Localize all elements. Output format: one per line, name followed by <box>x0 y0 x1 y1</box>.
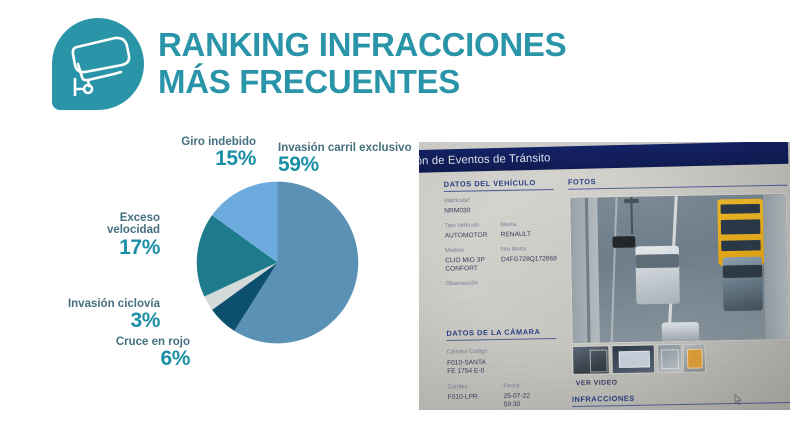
section-header-camara: DATOS DE LA CÁMARA <box>446 327 556 341</box>
motorcycle <box>612 236 635 248</box>
field-value-modelo-line2[interactable]: CONFORT <box>445 265 478 274</box>
bus-vehicle <box>717 199 764 266</box>
partial-car-bottom <box>662 322 700 343</box>
app-title-text: ón de Eventos de Tránsito <box>419 152 551 168</box>
main-evidence-photo[interactable] <box>570 194 788 343</box>
photo-thumbnail-4[interactable] <box>684 345 705 372</box>
field-value-carriles[interactable]: F010-LPR <box>448 393 478 402</box>
pie-label-exceso-velocidad-name-2: velocidad <box>10 224 160 236</box>
pie-label-cruce-en-rojo: Cruce en rojo 6% <box>40 336 190 371</box>
photo-thumbnail-2[interactable] <box>612 346 654 374</box>
field-label-observacion: Observación <box>446 280 479 287</box>
section-header-vehiculo: DATOS DEL VEHÍCULO <box>444 178 554 192</box>
page-header: RANKING INFRACCIONES MÁS FRECUENTES <box>52 12 672 116</box>
pie-label-invasion-ciclovia-value: 3% <box>10 310 160 333</box>
pie-label-giro-indebido-value: 15% <box>66 148 256 171</box>
pie-label-exceso-velocidad: Exceso velocidad 17% <box>10 212 160 259</box>
sidewalk-right <box>763 194 788 339</box>
pie-graphic <box>195 180 360 345</box>
field-value-matricula[interactable]: NRM030 <box>444 207 470 216</box>
white-car-windshield <box>636 254 680 268</box>
screen-surface: ón de Eventos de Tránsito DATOS DEL VEHÍ… <box>419 142 790 410</box>
title-line-1: RANKING INFRACCIONES <box>158 27 566 64</box>
pie-label-cruce-en-rojo-value: 6% <box>40 348 190 371</box>
photo-thumbnail-3[interactable] <box>658 345 681 372</box>
section-header-infracciones: INFRACCIONES <box>572 391 790 407</box>
pie-label-giro-indebido: Giro indebido 15% <box>66 136 256 171</box>
field-value-fecha-line2[interactable]: 59:30 <box>504 401 521 410</box>
photo-thumbnail-1[interactable] <box>573 346 609 374</box>
pie-label-exceso-velocidad-value: 17% <box>10 237 160 260</box>
field-label-matricula: Matrícula* <box>444 198 470 205</box>
field-value-marca[interactable]: RENAULT <box>501 231 532 240</box>
field-label-modelo: Modelo <box>445 248 464 255</box>
field-label-fecha: Fecha <box>503 383 519 390</box>
field-label-tipo-vehiculo: Tipo Vehículo <box>444 222 479 229</box>
field-value-nro-motor[interactable]: D4FG728Q172868 <box>501 255 557 264</box>
app-body: DATOS DEL VEHÍCULO FOTOS DATOS DE LA CÁM… <box>419 167 790 410</box>
ver-video-button[interactable]: VER VIDEO <box>576 379 618 387</box>
transit-events-screen-photo: ón de Eventos de Tránsito DATOS DEL VEHÍ… <box>419 142 790 410</box>
field-value-fecha-line1[interactable]: 25-07-22 <box>503 392 530 401</box>
field-label-camara-codigo: Cámara Código <box>447 349 488 356</box>
page-title: RANKING INFRACCIONES MÁS FRECUENTES <box>158 27 566 101</box>
light-pole-arm <box>624 199 639 203</box>
infractions-pie-chart: Giro indebido 15% Invasión carril exclus… <box>20 128 400 428</box>
section-header-fotos: FOTOS <box>568 173 788 189</box>
field-value-tipo-vehiculo[interactable]: AUTOMOTOR <box>445 232 488 241</box>
pie-label-invasion-ciclovia: Invasión ciclovía 3% <box>10 298 160 333</box>
pie-svg <box>195 180 360 345</box>
mouse-cursor-icon <box>734 394 741 406</box>
title-line-2: MÁS FRECUENTES <box>158 64 566 101</box>
pie-label-exceso-velocidad-name-1: Exceso <box>10 212 160 224</box>
field-label-nro-motor: Nro Motor <box>501 246 527 253</box>
field-label-carriles: Carriles <box>447 384 467 391</box>
cctv-camera-glyph <box>65 34 133 96</box>
cctv-camera-icon <box>52 18 144 110</box>
field-label-marca: Marca <box>500 222 516 229</box>
blue-car-windshield <box>723 265 763 278</box>
field-value-camara-codigo-line2[interactable]: FE 1754 E-0 <box>447 367 484 376</box>
